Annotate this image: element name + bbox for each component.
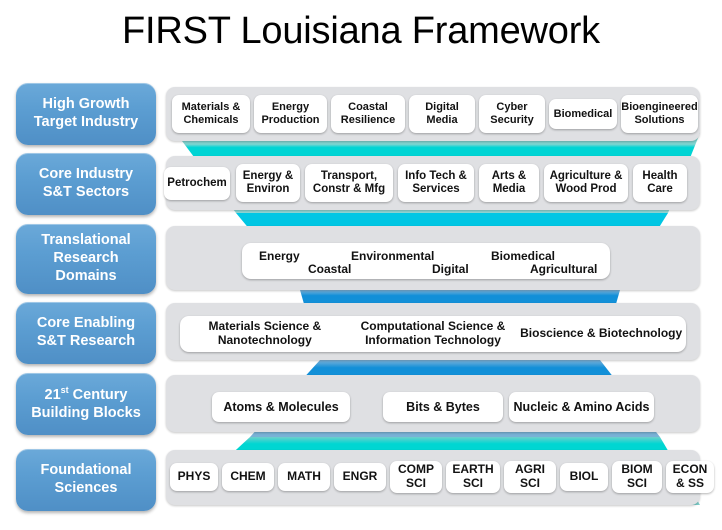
chip-label: PHYS (178, 470, 211, 484)
chip-atoms-molecules[interactable]: Atoms & Molecules (212, 392, 350, 422)
page-title: FIRST Louisiana Framework (0, 10, 722, 53)
chip-label: CHEM (230, 470, 265, 484)
chip-biomedical[interactable]: Biomedical (549, 99, 617, 129)
chip-nucleic-amino-acids[interactable]: Nucleic & Amino Acids (509, 392, 654, 422)
chip-label: Agriculture & Wood Prod (546, 170, 626, 196)
chip-translational-domains[interactable]: Energy Coastal Environmental Digital Bio… (242, 243, 610, 279)
row-label-prefix: 21 (45, 387, 61, 403)
row-label-suffix: Century (69, 387, 128, 403)
chip-coastal-resilience[interactable]: Coastal Resilience (331, 95, 405, 133)
chip-math[interactable]: MATH (278, 463, 330, 491)
sidebar-item-high-growth-target-industry[interactable]: High Growth Target Industry (16, 83, 156, 145)
row-label-building-blocks: 21st Century Building Blocks (31, 385, 141, 422)
chip-label: Atoms & Molecules (223, 400, 338, 414)
domain-digital: Digital (432, 262, 469, 276)
chip-label: Bioengineered Solutions (621, 101, 697, 126)
chip-label: Biomedical (554, 108, 613, 121)
chip-info-tech-services[interactable]: Info Tech & Services (398, 164, 474, 202)
row-label-core-industry: Core Industry S&T Sectors (39, 166, 133, 201)
chip-label: Bits & Bytes (406, 400, 480, 414)
chip-label: ECON & SS (668, 463, 712, 491)
chip-label: BIOM SCI (614, 463, 660, 491)
chip-phys[interactable]: PHYS (170, 463, 218, 491)
sidebar-item-core-industry-st-sectors[interactable]: Core Industry S&T Sectors (16, 153, 156, 215)
chip-label: AGRI SCI (506, 463, 554, 491)
domain-biomedical: Biomedical (491, 249, 555, 263)
row-label-high-growth: High Growth Target Industry (34, 96, 138, 131)
chip-label: COMP SCI (392, 463, 440, 491)
chip-engr[interactable]: ENGR (334, 463, 386, 491)
row-label-sup: st (61, 385, 69, 395)
chip-label: ENGR (343, 470, 378, 484)
chip-core-enabling-group[interactable]: Materials Science & Nanotechnology Compu… (180, 316, 686, 352)
chip-label: EARTH SCI (448, 463, 498, 491)
row-label-core-enabling: Core Enabling S&T Research (37, 315, 135, 350)
row-label-line2: Building Blocks (31, 405, 141, 421)
chip-bits-bytes[interactable]: Bits & Bytes (383, 392, 503, 422)
chip-label: Energy & Environ (238, 170, 298, 196)
domain-energy: Energy (259, 249, 300, 263)
row-label-translational: Translational Research Domains (41, 232, 130, 285)
row-label-foundational: Foundational Sciences (40, 462, 131, 497)
chip-bioengineered-solutions[interactable]: Bioengineered Solutions (621, 95, 698, 133)
framework-diagram: FIRST Louisiana Framework (0, 0, 722, 530)
domain-coastal: Coastal (308, 262, 351, 276)
domain-agricultural: Agricultural (530, 262, 597, 276)
chip-arts-media[interactable]: Arts & Media (479, 164, 539, 202)
chip-label: Transport, Constr & Mfg (307, 170, 391, 196)
chip-label: MATH (287, 470, 321, 484)
chip-cyber-security[interactable]: Cyber Security (479, 95, 545, 133)
sidebar-item-foundational-sciences[interactable]: Foundational Sciences (16, 449, 156, 511)
chip-label: Digital Media (411, 101, 473, 126)
chip-agri-sci[interactable]: AGRI SCI (504, 461, 556, 493)
chip-comp-sci[interactable]: COMP SCI (390, 461, 442, 493)
chip-petrochem[interactable]: Petrochem (164, 167, 230, 200)
chip-energy-production[interactable]: Energy Production (254, 95, 327, 133)
chip-econ-ss[interactable]: ECON & SS (666, 461, 714, 493)
chip-digital-media[interactable]: Digital Media (409, 95, 475, 133)
sidebar-item-translational-research-domains[interactable]: Translational Research Domains (16, 224, 156, 294)
chip-transport-constr-mfg[interactable]: Transport, Constr & Mfg (305, 164, 393, 202)
chip-label: BIOL (570, 470, 599, 484)
chip-earth-sci[interactable]: EARTH SCI (446, 461, 500, 493)
chip-label: Materials & Chemicals (174, 101, 248, 126)
chip-label: Nucleic & Amino Acids (514, 400, 650, 414)
core-research-materials: Materials Science & Nanotechnology (182, 320, 348, 348)
chip-label: Health Care (635, 170, 685, 196)
chip-agriculture-wood-prod[interactable]: Agriculture & Wood Prod (544, 164, 628, 202)
chip-biol[interactable]: BIOL (560, 463, 608, 491)
chip-materials-chemicals[interactable]: Materials & Chemicals (172, 95, 250, 133)
chip-biom-sci[interactable]: BIOM SCI (612, 461, 662, 493)
domain-environmental: Environmental (351, 249, 434, 263)
sidebar-item-21st-century-building-blocks[interactable]: 21st Century Building Blocks (16, 373, 156, 435)
sidebar-item-core-enabling-st-research[interactable]: Core Enabling S&T Research (16, 302, 156, 364)
chip-label: Arts & Media (481, 170, 537, 196)
core-research-bioscience: Bioscience & Biotechnology (518, 327, 684, 341)
chip-chem[interactable]: CHEM (222, 463, 274, 491)
chip-health-care[interactable]: Health Care (633, 164, 687, 202)
core-research-computational: Computational Science & Information Tech… (348, 320, 519, 348)
chip-energy-environ[interactable]: Energy & Environ (236, 164, 300, 202)
chip-label: Energy Production (256, 101, 325, 126)
chip-label: Petrochem (167, 177, 226, 190)
chip-label: Info Tech & Services (400, 170, 472, 196)
chip-label: Cyber Security (481, 101, 543, 126)
chip-label: Coastal Resilience (333, 101, 403, 126)
